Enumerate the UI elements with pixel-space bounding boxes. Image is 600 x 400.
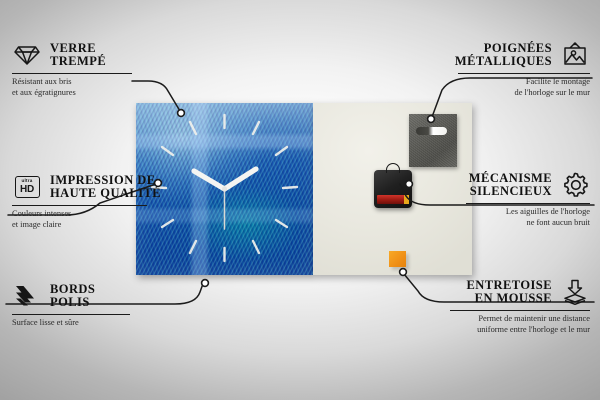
feature-header: MÉCANISME SILENCIEUX: [402, 170, 590, 200]
hanger-keyhole-slot: [416, 127, 447, 135]
infographic-canvas: VERRE TREMPÉ Résistant aux bris et aux é…: [0, 0, 600, 400]
feature-subtitle: Surface lisse et sûre: [12, 318, 200, 328]
feature-title: MÉCANISME SILENCIEUX: [469, 172, 552, 199]
polished-edges-icon: [12, 281, 42, 311]
marker-polished-edges: [202, 280, 209, 287]
feature-divider: [466, 203, 590, 204]
feature-header: POIGNÉES MÉTALLIQUES: [402, 40, 590, 70]
feature-divider: [458, 73, 590, 74]
gear-icon: [560, 170, 590, 200]
metal-hanger-plate: [409, 114, 457, 167]
feature-silent-movement[interactable]: MÉCANISME SILENCIEUX Les aiguilles de l'…: [402, 170, 590, 228]
feature-metal-handles[interactable]: POIGNÉES MÉTALLIQUES Facilite le montage…: [402, 40, 590, 98]
feature-subtitle: Couleurs intenses et image claire: [12, 209, 200, 230]
feature-title: VERRE TREMPÉ: [50, 42, 106, 69]
feature-subtitle: Résistant aux bris et aux égratignures: [12, 77, 200, 98]
feature-header: ENTRETOISE EN MOUSSE: [402, 277, 590, 307]
feature-header: VERRE TREMPÉ: [12, 40, 200, 70]
ultra-hd-main-text: HD: [20, 185, 34, 195]
hanging-frame-icon: [560, 40, 590, 70]
feature-divider: [12, 205, 147, 206]
feature-subtitle: Permet de maintenir une distance uniform…: [402, 314, 590, 335]
foam-spacer-pad: [389, 251, 406, 267]
diamond-icon: [12, 40, 42, 70]
feature-tempered-glass[interactable]: VERRE TREMPÉ Résistant aux bris et aux é…: [12, 40, 200, 98]
movement-hanger-loop: [386, 163, 400, 173]
clock-center-cap: [222, 186, 227, 191]
feature-divider: [450, 310, 590, 311]
press-down-layers-icon: [560, 277, 590, 307]
feature-title: POIGNÉES MÉTALLIQUES: [455, 42, 552, 69]
feature-subtitle: Facilite le montage de l'horloge sur le …: [402, 77, 590, 98]
feature-divider: [12, 314, 130, 315]
feature-header: BORDS POLIS: [12, 281, 200, 311]
feature-print-quality[interactable]: ultra HD IMPRESSION DE HAUTE QUALITÉ Cou…: [12, 172, 200, 230]
feature-header: ultra HD IMPRESSION DE HAUTE QUALITÉ: [12, 172, 200, 202]
feature-foam-spacer[interactable]: ENTRETOISE EN MOUSSE Permet de maintenir…: [402, 277, 590, 335]
ultra-hd-icon: ultra HD: [12, 172, 42, 202]
clock-hand-minute: [225, 169, 257, 189]
feature-divider: [12, 73, 132, 74]
feature-subtitle: Les aiguilles de l'horloge ne font aucun…: [402, 207, 590, 228]
feature-polished-edges[interactable]: BORDS POLIS Surface lisse et sûre: [12, 281, 200, 329]
feature-title: IMPRESSION DE HAUTE QUALITÉ: [50, 174, 161, 201]
feature-title: ENTRETOISE EN MOUSSE: [466, 279, 552, 306]
feature-title: BORDS POLIS: [50, 283, 95, 310]
